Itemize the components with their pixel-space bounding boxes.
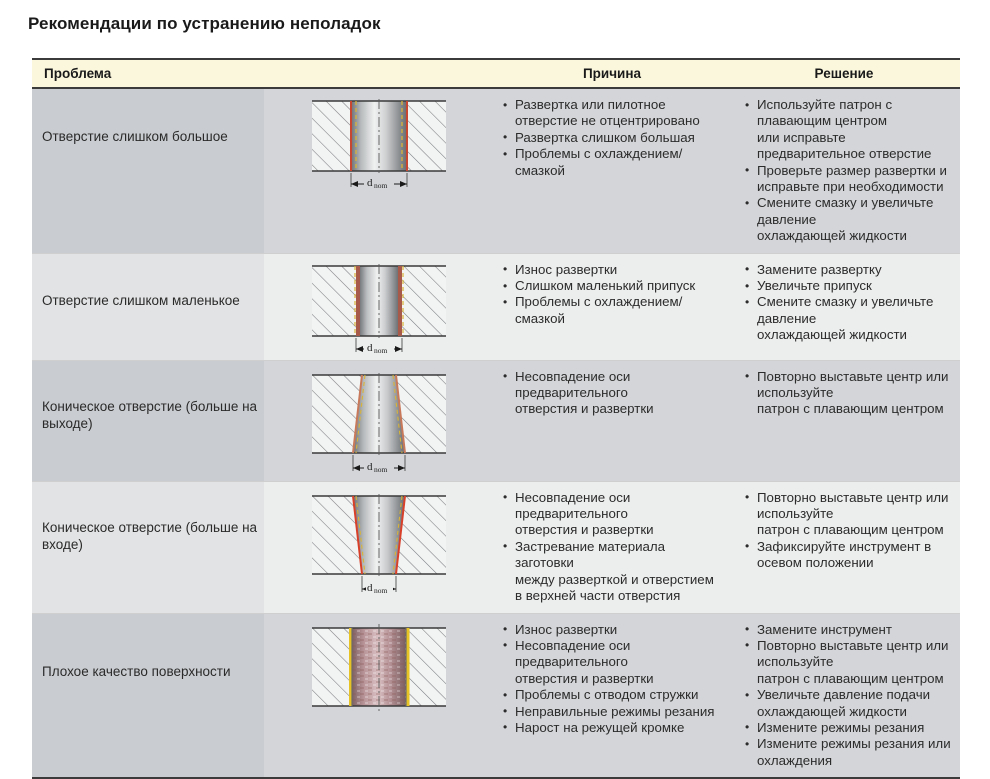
cause-container: Развертка или пилотное отверстие не отце… bbox=[496, 89, 728, 187]
list-item: Повторно выставьте центр или используйте… bbox=[744, 369, 952, 418]
list-item: Смените смазку и увеличьте давление охла… bbox=[744, 294, 952, 343]
problem-label: Отверстие слишком маленькое bbox=[32, 293, 246, 310]
list-item: Несовпадение оси предварительного отверс… bbox=[502, 490, 720, 539]
list-item: Неправильные режимы резания bbox=[502, 704, 720, 720]
cell-solution: Повторно выставьте центр или используйте… bbox=[728, 481, 960, 613]
solution-list: Замените инструмент Повторно выставьте ц… bbox=[744, 622, 952, 770]
cell-figure: d nom bbox=[264, 253, 496, 360]
svg-text:d: d bbox=[367, 461, 373, 473]
solution-container: Используйте патрон с плавающим центром и… bbox=[728, 89, 960, 253]
list-item: Повторно выставьте центр или используйте… bbox=[744, 638, 952, 687]
list-item: Увеличьте припуск bbox=[744, 278, 952, 294]
cause-container: Износ развертки Несовпадение оси предвар… bbox=[496, 614, 728, 745]
list-item: Зафиксируйте инструмент в осевом положен… bbox=[744, 539, 952, 572]
list-item: Износ развертки bbox=[502, 262, 720, 278]
hole-too-large-diagram: d nom bbox=[304, 95, 454, 191]
cell-problem: Коническое отверстие (больше на входе) bbox=[32, 481, 264, 613]
figure-container bbox=[264, 614, 496, 742]
list-item: Используйте патрон с плавающим центром и… bbox=[744, 97, 952, 163]
list-item: Замените развертку bbox=[744, 262, 952, 278]
problem-label: Коническое отверстие (больше на входе) bbox=[32, 520, 264, 553]
cell-figure: d nom bbox=[264, 88, 496, 253]
svg-text:d: d bbox=[367, 177, 373, 189]
list-item: Развертка или пилотное отверстие не отце… bbox=[502, 97, 720, 130]
poor-surface-finish-diagram bbox=[304, 620, 454, 738]
svg-text:d: d bbox=[367, 342, 373, 354]
solution-container: Повторно выставьте центр или используйте… bbox=[728, 361, 960, 426]
cell-problem: Коническое отверстие (больше на выходе) bbox=[32, 360, 264, 481]
svg-text:d: d bbox=[367, 582, 373, 594]
cell-solution: Повторно выставьте центр или используйте… bbox=[728, 360, 960, 481]
table-body: Отверстие слишком большое bbox=[32, 88, 960, 778]
table-row: Коническое отверстие (больше на входе) bbox=[32, 481, 960, 613]
problem-label: Коническое отверстие (больше на выходе) bbox=[32, 399, 264, 432]
cell-solution: Замените инструмент Повторно выставьте ц… bbox=[728, 613, 960, 778]
tapered-hole-wide-entry-diagram: d nom bbox=[304, 488, 454, 598]
solution-list: Повторно выставьте центр или используйте… bbox=[744, 369, 952, 418]
cell-cause: Несовпадение оси предварительного отверс… bbox=[496, 481, 728, 613]
figure-container: d nom bbox=[264, 482, 496, 602]
table-row: Отверстие слишком большое bbox=[32, 88, 960, 253]
hole-too-small-diagram: d nom bbox=[304, 260, 454, 356]
cause-container: Износ развертки Слишком маленький припус… bbox=[496, 254, 728, 336]
figure-container: d nom bbox=[264, 361, 496, 481]
tapered-hole-wide-exit-diagram: d nom bbox=[304, 367, 454, 477]
cell-cause: Износ развертки Несовпадение оси предвар… bbox=[496, 613, 728, 778]
list-item: Измените режимы резания или охлаждения bbox=[744, 736, 952, 769]
list-item: Проверьте размер развертки и исправьте п… bbox=[744, 163, 952, 196]
cell-cause: Развертка или пилотное отверстие не отце… bbox=[496, 88, 728, 253]
list-item: Нарост на режущей кромке bbox=[502, 720, 720, 736]
table-row: Плохое качество поверхности bbox=[32, 613, 960, 778]
cause-list: Несовпадение оси предварительного отверс… bbox=[502, 369, 720, 418]
cell-figure bbox=[264, 613, 496, 778]
cell-figure: d nom bbox=[264, 481, 496, 613]
cause-list: Несовпадение оси предварительного отверс… bbox=[502, 490, 720, 605]
cause-list: Развертка или пилотное отверстие не отце… bbox=[502, 97, 720, 179]
list-item: Несовпадение оси предварительного отверс… bbox=[502, 638, 720, 687]
solution-list: Повторно выставьте центр или используйте… bbox=[744, 490, 952, 572]
cell-cause: Несовпадение оси предварительного отверс… bbox=[496, 360, 728, 481]
cause-list: Износ развертки Слишком маленький припус… bbox=[502, 262, 720, 328]
column-header-problem: Проблема bbox=[32, 59, 496, 88]
page-title: Рекомендации по устранению неполадок bbox=[28, 14, 381, 34]
list-item: Замените инструмент bbox=[744, 622, 952, 638]
cell-problem: Плохое качество поверхности bbox=[32, 613, 264, 778]
cell-figure: d nom bbox=[264, 360, 496, 481]
table-row: Коническое отверстие (больше на выходе) bbox=[32, 360, 960, 481]
solution-container: Замените развертку Увеличьте припуск Сме… bbox=[728, 254, 960, 352]
solution-container: Замените инструмент Повторно выставьте ц… bbox=[728, 614, 960, 778]
troubleshooting-table: Проблема Причина Решение Отверстие слишк… bbox=[32, 58, 960, 779]
column-header-cause: Причина bbox=[496, 59, 728, 88]
cell-solution: Замените развертку Увеличьте припуск Сме… bbox=[728, 253, 960, 360]
table-header: Проблема Причина Решение bbox=[32, 59, 960, 88]
svg-text:nom: nom bbox=[374, 465, 388, 474]
cause-container: Несовпадение оси предварительного отверс… bbox=[496, 482, 728, 613]
cause-list: Износ развертки Несовпадение оси предвар… bbox=[502, 622, 720, 737]
solution-list: Используйте патрон с плавающим центром и… bbox=[744, 97, 952, 245]
list-item: Проблемы с охлаждением/смазкой bbox=[502, 146, 720, 179]
list-item: Повторно выставьте центр или используйте… bbox=[744, 490, 952, 539]
svg-text:nom: nom bbox=[374, 586, 388, 595]
cell-problem: Отверстие слишком большое bbox=[32, 88, 264, 253]
solution-list: Замените развертку Увеличьте припуск Сме… bbox=[744, 262, 952, 344]
list-item: Увеличьте давление подачи охлаждающей жи… bbox=[744, 687, 952, 720]
troubleshooting-table-wrapper: Проблема Причина Решение Отверстие слишк… bbox=[32, 58, 960, 779]
solution-container: Повторно выставьте центр или используйте… bbox=[728, 482, 960, 580]
cell-problem: Отверстие слишком маленькое bbox=[32, 253, 264, 360]
svg-text:nom: nom bbox=[374, 346, 388, 355]
list-item: Износ развертки bbox=[502, 622, 720, 638]
svg-text:nom: nom bbox=[374, 181, 388, 190]
cell-solution: Используйте патрон с плавающим центром и… bbox=[728, 88, 960, 253]
problem-label: Плохое качество поверхности bbox=[32, 664, 237, 681]
figure-container: d nom bbox=[264, 254, 496, 360]
problem-label: Отверстие слишком большое bbox=[32, 129, 234, 146]
cell-cause: Износ развертки Слишком маленький припус… bbox=[496, 253, 728, 360]
list-item: Проблемы с отводом стружки bbox=[502, 687, 720, 703]
list-item: Слишком маленький припуск bbox=[502, 278, 720, 294]
column-header-solution: Решение bbox=[728, 59, 960, 88]
list-item: Развертка слишком большая bbox=[502, 130, 720, 146]
header-row: Проблема Причина Решение bbox=[32, 59, 960, 88]
figure-container: d nom bbox=[264, 89, 496, 195]
cause-container: Несовпадение оси предварительного отверс… bbox=[496, 361, 728, 426]
list-item: Несовпадение оси предварительного отверс… bbox=[502, 369, 720, 418]
list-item: Смените смазку и увеличьте давление охла… bbox=[744, 195, 952, 244]
table-row: Отверстие слишком маленькое bbox=[32, 253, 960, 360]
list-item: Проблемы с охлаждением/смазкой bbox=[502, 294, 720, 327]
list-item: Измените режимы резания bbox=[744, 720, 952, 736]
list-item: Застревание материала заготовки между ра… bbox=[502, 539, 720, 605]
